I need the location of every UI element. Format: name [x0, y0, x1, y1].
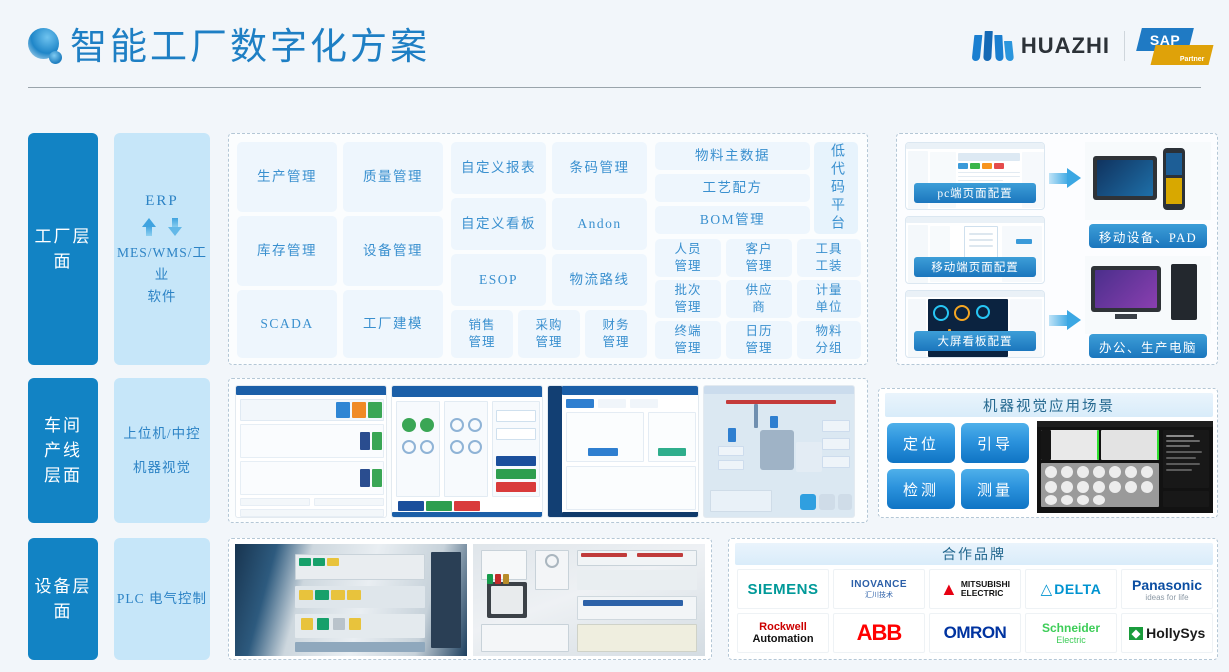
module-tile-logistics-route[interactable]: 物流路线: [552, 254, 647, 306]
arrow-up-icon: [142, 218, 156, 236]
layer-label-line2: 产线: [44, 438, 82, 463]
huazhi-wordmark: HUAZHI: [1021, 33, 1110, 59]
module-tile-equipment[interactable]: 设备管理: [343, 216, 443, 286]
brand-logo-mitsubishi: ▲ MITSUBISHI ELECTRIC: [929, 569, 1021, 609]
module-label-line1: 销售: [468, 317, 495, 334]
module-tile-quality[interactable]: 质量管理: [343, 142, 443, 212]
module-label-line1: 计量: [815, 282, 842, 299]
module-tile-process-recipe[interactable]: 工艺配方: [655, 174, 810, 202]
module-tile-terminal[interactable]: 终端 管理: [655, 321, 721, 359]
mes-wms-label-line1: MES/WMS/工业: [114, 242, 210, 286]
module-label-line1: 日历: [745, 323, 772, 340]
plc-photo-strip: [228, 538, 712, 660]
brand-logo-panasonic: Panasonic ideas for life: [1121, 569, 1213, 609]
layer-label-factory: 工厂层面: [28, 133, 98, 365]
config-device-panel: pc端页面配置 移动端页面配置 大屏看板配置: [896, 133, 1218, 365]
module-tile-low-code-platform[interactable]: 低代码平台: [814, 142, 858, 234]
module-label-line2: 工装: [815, 258, 842, 275]
brand-logo-delta: △ DELTA: [1025, 569, 1117, 609]
module-tile-tooling[interactable]: 工具 工装: [797, 239, 861, 277]
brand-logo-hollysys: ◆ HollySys: [1121, 613, 1213, 653]
huazhi-logo-icon: [973, 31, 1013, 61]
module-label-line1: 人员: [674, 241, 701, 258]
pc-devices-image: [1085, 256, 1211, 334]
module-tile-finance[interactable]: 财务 管理: [585, 310, 647, 358]
module-label-line2: 管理: [535, 334, 562, 351]
screenshot-mobile-config[interactable]: 移动端页面配置: [905, 216, 1045, 284]
mitsubishi-diamond-icon: ▲: [940, 579, 958, 600]
module-tile-personnel[interactable]: 人员 管理: [655, 239, 721, 277]
machine-vision-panel: 机器视觉应用场景 定位 引导 检测 测量: [878, 388, 1218, 518]
module-label-line1: 工具: [815, 241, 842, 258]
module-tile-customer[interactable]: 客户 管理: [726, 239, 792, 277]
arrow-down-icon: [168, 218, 182, 236]
screenshot-dashboard-config[interactable]: 大屏看板配置: [905, 290, 1045, 358]
module-tile-barcode[interactable]: 条码管理: [552, 142, 647, 194]
module-tile-bom[interactable]: BOM管理: [655, 206, 810, 234]
screenshot-caption: 移动端页面配置: [914, 257, 1036, 277]
page-header: 智能工厂数字化方案 HUAZHI SAP Partner: [0, 0, 1229, 92]
module-label-line2: 商: [752, 299, 766, 316]
module-tile-material-group[interactable]: 物料 分组: [797, 321, 861, 359]
vision-button-guidance[interactable]: 引导: [961, 423, 1029, 463]
vision-button-measurement[interactable]: 测量: [961, 469, 1029, 509]
module-tile-factory-modeling[interactable]: 工厂建模: [343, 290, 443, 358]
hmi-screenshot-strip: [228, 378, 868, 523]
brand-logo-omron: OMRON: [929, 613, 1021, 653]
module-tile-batch[interactable]: 批次 管理: [655, 280, 721, 318]
module-label-line1: 批次: [674, 282, 701, 299]
target-label-mobile: 移动设备、PAD: [1089, 224, 1207, 248]
module-label-line2: 管理: [468, 334, 495, 351]
brand-divider: [1124, 31, 1125, 61]
machine-vision-label: 机器视觉: [133, 457, 191, 479]
module-label-line1: 物料: [815, 323, 842, 340]
layer-label-line3: 层面: [44, 463, 82, 488]
header-divider: [28, 87, 1201, 88]
module-tile-inventory[interactable]: 库存管理: [237, 216, 337, 286]
module-tile-supplier[interactable]: 供应 商: [726, 280, 792, 318]
plc-label: PLC 电气控制: [117, 588, 207, 610]
screenshot-caption: 大屏看板配置: [914, 331, 1036, 351]
mobile-devices-image: [1085, 142, 1211, 220]
module-label-line2: 管理: [602, 334, 629, 351]
module-tile-purchase[interactable]: 采购 管理: [518, 310, 580, 358]
flow-arrow-to-pc-icon: [1049, 310, 1081, 330]
target-label-pc: 办公、生产电脑: [1089, 334, 1207, 358]
module-tile-custom-report[interactable]: 自定义报表: [451, 142, 546, 194]
module-label-line1: 终端: [674, 323, 701, 340]
plc-photo-2[interactable]: [473, 544, 705, 656]
module-tile-material-master[interactable]: 物料主数据: [655, 142, 810, 170]
mes-wms-label-line2: 软件: [148, 286, 177, 308]
hmi-label: 上位机/中控: [123, 423, 200, 445]
layer-sub-equipment: PLC 电气控制: [114, 538, 210, 660]
module-label-line2: 分组: [815, 340, 842, 357]
delta-triangle-icon: △: [1041, 580, 1053, 598]
module-label-line2: 管理: [674, 299, 701, 316]
erp-label: ERP: [145, 190, 179, 212]
module-tile-andon[interactable]: Andon: [552, 198, 647, 250]
brands-panel-title: 合作品牌: [735, 543, 1213, 565]
screenshot-pc-config[interactable]: pc端页面配置: [905, 142, 1045, 210]
module-tile-scada[interactable]: SCADA: [237, 290, 337, 358]
screenshot-caption: pc端页面配置: [914, 183, 1036, 203]
module-label-line2: 管理: [745, 340, 772, 357]
layer-sub-factory: ERP MES/WMS/工业 软件: [114, 133, 210, 365]
module-tile-production[interactable]: 生产管理: [237, 142, 337, 212]
layer-label-workshop: 车间 产线 层面: [28, 378, 98, 523]
vision-software-screenshot[interactable]: [1037, 421, 1213, 513]
module-tile-uom[interactable]: 计量 单位: [797, 280, 861, 318]
plc-photo-1[interactable]: [235, 544, 467, 656]
hmi-screenshot-2[interactable]: [391, 385, 543, 518]
brand-logo-abb: ABB: [833, 613, 925, 653]
module-label-line2: 管理: [674, 258, 701, 275]
module-label-line1: 财务: [602, 317, 629, 334]
module-tile-sales[interactable]: 销售 管理: [451, 310, 513, 358]
brand-logo-siemens: SIEMENS: [737, 569, 829, 609]
hmi-screenshot-3[interactable]: [547, 385, 699, 518]
sap-partner-label: Partner: [1180, 56, 1205, 63]
sap-partner-badge: SAP Partner: [1139, 26, 1211, 66]
hollysys-mark-icon: ◆: [1129, 627, 1143, 640]
bidirectional-arrows-icon: [142, 218, 182, 236]
module-grid-panel: 生产管理 质量管理 库存管理 设备管理 SCADA 工厂建模 自定义报表 条码管…: [228, 133, 868, 365]
brand-logos: HUAZHI SAP Partner: [973, 22, 1211, 70]
brand-logo-schneider: Schneider Electric: [1025, 613, 1117, 653]
module-label-line1: 采购: [535, 317, 562, 334]
vision-button-positioning[interactable]: 定位: [887, 423, 955, 463]
brand-logo-rockwell: Rockwell Automation: [737, 613, 829, 653]
module-label-line1: 供应: [745, 282, 772, 299]
module-tile-custom-board[interactable]: 自定义看板: [451, 198, 546, 250]
module-tile-esop[interactable]: ESOP: [451, 254, 546, 306]
vision-button-inspection[interactable]: 检测: [887, 469, 955, 509]
module-label-line2: 管理: [674, 340, 701, 357]
blue-sphere-logo-icon: [28, 28, 64, 64]
vision-panel-title: 机器视觉应用场景: [885, 393, 1213, 417]
module-label-line2: 管理: [745, 258, 772, 275]
hmi-screenshot-1[interactable]: [235, 385, 387, 518]
flow-arrow-to-mobile-icon: [1049, 168, 1081, 188]
layer-label-line1: 车间: [44, 413, 82, 438]
module-tile-calendar[interactable]: 日历 管理: [726, 321, 792, 359]
layer-label-equipment: 设备层面: [28, 538, 98, 660]
partner-brands-panel: 合作品牌 SIEMENS INOVANCE 汇川技术 ▲ MITSUBISHI …: [728, 538, 1218, 660]
module-label-line1: 客户: [745, 241, 772, 258]
hmi-screenshot-4[interactable]: [703, 385, 855, 518]
layer-sub-workshop: 上位机/中控 机器视觉: [114, 378, 210, 523]
brand-logo-inovance: INOVANCE 汇川技术: [833, 569, 925, 609]
page-title: 智能工厂数字化方案: [70, 16, 430, 70]
module-label-line2: 单位: [815, 299, 842, 316]
